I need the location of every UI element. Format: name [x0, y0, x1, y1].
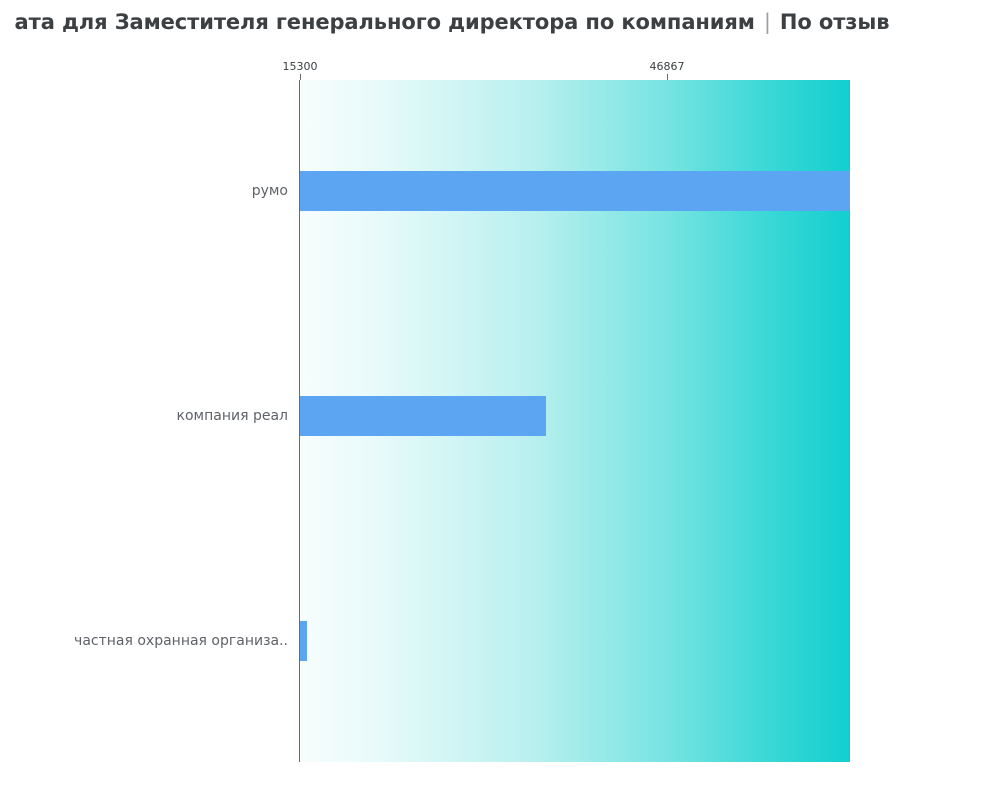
x-axis-tick-1 [667, 74, 668, 80]
bar-1 [300, 396, 546, 436]
x-axis-tick-label-1: 46867 [650, 60, 685, 73]
y-axis-category-label-0: румо [252, 183, 288, 199]
title-separator: | [755, 0, 780, 44]
x-axis-tick-label-0: 15300 [283, 60, 318, 73]
page-title: ата для Заместителя генерального директо… [0, 0, 1000, 44]
bar-2 [300, 621, 307, 661]
bar-0 [300, 171, 850, 211]
chart-title-main: ата для Заместителя генерального директо… [15, 10, 755, 34]
y-axis-category-label-2: частная охранная организа.. [74, 633, 288, 649]
x-axis-tick-0 [300, 74, 301, 80]
chart-title-suffix: По отзыв [780, 10, 890, 34]
y-axis-category-label-1: компания реал [177, 408, 288, 424]
